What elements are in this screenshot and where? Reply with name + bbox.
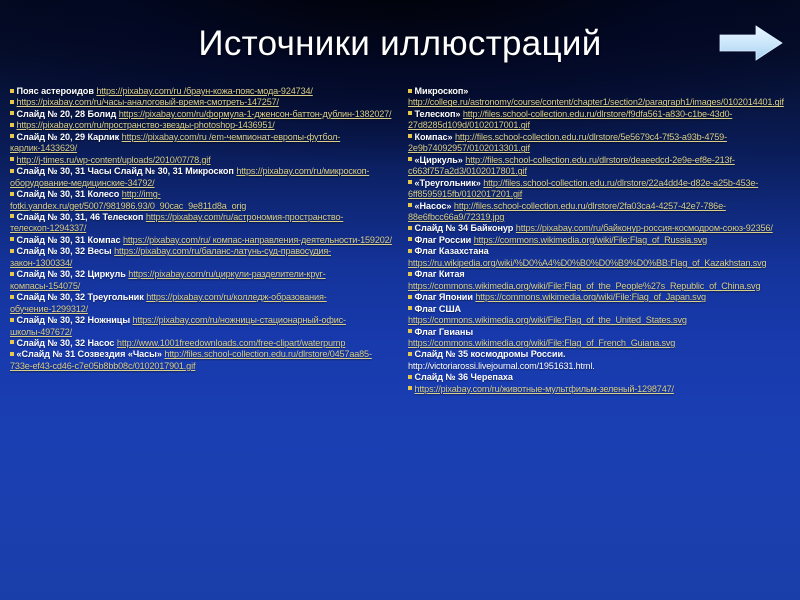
reference-entry: Пояс астероидов https://pixabay.com/ru /…: [10, 86, 392, 97]
reference-link[interactable]: https://commons.wikimedia.org/wiki/File:…: [474, 235, 707, 245]
reference-entry: https://pixabay.com/ru/пространство-звез…: [10, 120, 392, 131]
reference-entry: Флаг Китаяhttps://commons.wikimedia.org/…: [408, 269, 794, 292]
reference-link[interactable]: https://pixabay.com/ru/пространство-звез…: [17, 120, 275, 130]
reference-label: Флаг США: [415, 304, 462, 314]
reference-label: Слайд № 30, 32 Весы: [17, 246, 115, 256]
reference-entry: http://j-times.ru/wp-content/uploads/201…: [10, 155, 392, 166]
reference-label: Слайд № 30, 31 Часы Слайд № 30, 31 Микро…: [17, 166, 237, 176]
reference-label: Флаг Китая: [415, 269, 465, 279]
reference-entry: Слайд № 30, 32 Насос http://www.1001free…: [10, 338, 392, 349]
reference-entry: Слайд № 36 Черепаха: [408, 372, 794, 383]
bullet-square-icon: [408, 329, 412, 333]
bullet-square-icon: [408, 111, 412, 115]
reference-label: Слайд № 20, 29 Карлик: [17, 132, 122, 142]
bullet-square-icon: [10, 169, 14, 173]
bullet-square-icon: [408, 226, 412, 230]
reference-label: Слайд № 30, 32 Треугольник: [17, 292, 147, 302]
reference-entry: «Треугольник» http://files.school-collec…: [408, 178, 794, 201]
reference-label: Слайд № 30, 32 Циркуль: [17, 269, 129, 279]
bullet-square-icon: [408, 375, 412, 379]
reference-label: Слайд № 20, 28 Болид: [17, 109, 119, 119]
bullet-square-icon: [10, 192, 14, 196]
reference-label: Слайд № 35 космодромы России.: [415, 349, 566, 359]
reference-link[interactable]: https://commons.wikimedia.org/wiki/File:…: [408, 315, 687, 325]
reference-label: Компас»: [415, 132, 456, 142]
reference-entry: Слайд № 30, 32 Циркуль https://pixabay.c…: [10, 269, 392, 292]
reference-label: Флаг России: [415, 235, 474, 245]
reference-label: Флаг Казахстана: [415, 246, 489, 256]
bullet-square-icon: [10, 237, 14, 241]
left-column: Пояс астероидов https://pixabay.com/ru /…: [0, 86, 400, 372]
reference-entry: Слайд № 35 космодромы России.http://vict…: [408, 349, 794, 372]
reference-label: Слайд № 30, 32 Насос: [17, 338, 117, 348]
reference-label: Телескоп»: [415, 109, 463, 119]
reference-link[interactable]: https://pixabay.com/ru/формула-1-дженсон…: [119, 109, 392, 119]
bullet-square-icon: [408, 157, 412, 161]
slide-canvas: Источники иллюстраций Пояс астероидов ht…: [0, 0, 800, 600]
reference-label: «Насос»: [415, 201, 454, 211]
reference-entry: Слайд № 30, 31, 46 Телескоп https://pixa…: [10, 212, 392, 235]
reference-link[interactable]: http://j-times.ru/wp-content/uploads/201…: [17, 155, 211, 165]
reference-label: Слайд № 30, 32 Ножницы: [17, 315, 133, 325]
bullet-square-icon: [10, 134, 14, 138]
bullet-square-icon: [10, 214, 14, 218]
bullet-square-icon: [408, 352, 412, 356]
reference-entry: Компас» http://files.school-collection.e…: [408, 132, 794, 155]
bullet-square-icon: [10, 89, 14, 93]
bullet-square-icon: [10, 352, 14, 356]
reference-entry: Слайд № 30, 31 Часы Слайд № 30, 31 Микро…: [10, 166, 392, 189]
reference-entry: https://pixabay.com/ru/животные-мультфил…: [408, 384, 794, 395]
bullet-square-icon: [408, 306, 412, 310]
reference-link[interactable]: http://college.ru/astronomy/course/conte…: [408, 97, 784, 107]
bullet-square-icon: [10, 272, 14, 276]
reference-link[interactable]: https://pixabay.com/ru/байконур-россия-к…: [516, 223, 773, 233]
reference-link[interactable]: http://victoriarossi.livejournal.com/195…: [408, 361, 595, 371]
bullet-square-icon: [408, 180, 412, 184]
reference-entry: Слайд № 20, 28 Болид https://pixabay.com…: [10, 109, 392, 120]
bullet-square-icon: [10, 157, 14, 161]
reference-entry: «Насос» http://files.school-collection.e…: [408, 201, 794, 224]
reference-label: Пояс астероидов: [17, 86, 97, 96]
reference-label: Слайд № 30, 31, 46 Телескоп: [17, 212, 146, 222]
reference-label: Слайд № 34 Байконур: [415, 223, 516, 233]
bullet-square-icon: [408, 89, 412, 93]
bullet-square-icon: [408, 386, 412, 390]
reference-entry: Слайд № 20, 29 Карлик https://pixabay.co…: [10, 132, 392, 155]
reference-entry: Слайд № 34 Байконур https://pixabay.com/…: [408, 223, 794, 234]
arrow-right-icon[interactable]: [718, 24, 784, 62]
reference-link[interactable]: https://commons.wikimedia.org/wiki/File:…: [475, 292, 706, 302]
reference-entry: «Циркуль» http://files.school-collection…: [408, 155, 794, 178]
bullet-square-icon: [10, 123, 14, 127]
reference-entry: Слайд № 30, 32 Весы https://pixabay.com/…: [10, 246, 392, 269]
page-title: Источники иллюстраций: [198, 26, 601, 61]
bullet-square-icon: [10, 100, 14, 104]
reference-link[interactable]: http://files.school-collection.edu.ru/dl…: [408, 201, 726, 222]
bullet-square-icon: [10, 340, 14, 344]
bullet-square-icon: [408, 249, 412, 253]
reference-label: Флаг Японии: [415, 292, 476, 302]
bullet-square-icon: [408, 134, 412, 138]
reference-entry: «Слайд № 31 Созвездия «Часы» http://file…: [10, 349, 392, 372]
bullet-square-icon: [408, 237, 412, 241]
title-bar: Источники иллюстраций: [0, 14, 800, 72]
reference-label: «Треугольник»: [415, 178, 484, 188]
bullet-square-icon: [10, 318, 14, 322]
reference-entry: Слайд № 30, 32 Треугольник https://pixab…: [10, 292, 392, 315]
reference-entry: Слайд № 30, 31 Компас https://pixabay.co…: [10, 235, 392, 246]
bullet-square-icon: [408, 272, 412, 276]
reference-label: Слайд № 36 Черепаха: [415, 372, 513, 382]
reference-entry: Микроскоп»http://college.ru/astronomy/co…: [408, 86, 794, 109]
reference-link[interactable]: http://files.school-collection.edu.ru/dl…: [408, 132, 727, 153]
reference-label: «Слайд № 31 Созвездия «Часы»: [17, 349, 165, 359]
bullet-square-icon: [10, 295, 14, 299]
bullet-square-icon: [408, 295, 412, 299]
reference-label: Микроскоп»: [415, 86, 469, 96]
reference-entry: https://pixabay.com/ru/часы-аналоговый-в…: [10, 97, 392, 108]
reference-entry: Слайд № 30, 31 Колесо http://img-fotki.y…: [10, 189, 392, 212]
reference-entry: Флаг Казахстанаhttps://ru.wikipedia.org/…: [408, 246, 794, 269]
reference-link[interactable]: https://pixabay.com/ru /браун-кожа-пояс-…: [96, 86, 312, 96]
right-column: Микроскоп»http://college.ru/astronomy/co…: [400, 86, 800, 395]
reference-label: Флаг Гвианы: [415, 327, 474, 337]
reference-link[interactable]: https://pixabay.com/ru/ компас-направлен…: [123, 235, 392, 245]
reference-link[interactable]: https://commons.wikimedia.org/wiki/File:…: [408, 281, 760, 291]
reference-label: Слайд № 30, 31 Колесо: [17, 189, 122, 199]
bullet-square-icon: [408, 203, 412, 207]
bullet-square-icon: [10, 249, 14, 253]
reference-link[interactable]: https://pixabay.com/ru/животные-мультфил…: [415, 384, 674, 394]
reference-label: «Циркуль»: [415, 155, 466, 165]
reference-entry: Слайд № 30, 32 Ножницы https://pixabay.c…: [10, 315, 392, 338]
reference-entry: Флаг России https://commons.wikimedia.or…: [408, 235, 794, 246]
reference-link[interactable]: https://commons.wikimedia.org/wiki/File:…: [408, 338, 675, 348]
reference-link[interactable]: https://ru.wikipedia.org/wiki/%D0%A4%D0%…: [408, 258, 766, 268]
reference-entry: Флаг Японии https://commons.wikimedia.or…: [408, 292, 794, 303]
reference-entry: Флаг СШАhttps://commons.wikimedia.org/wi…: [408, 304, 794, 327]
bullet-square-icon: [10, 111, 14, 115]
reference-label: Слайд № 30, 31 Компас: [17, 235, 124, 245]
content-columns: Пояс астероидов https://pixabay.com/ru /…: [0, 86, 800, 586]
reference-entry: Флаг Гвианыhttps://commons.wikimedia.org…: [408, 327, 794, 350]
reference-link[interactable]: https://pixabay.com/ru/часы-аналоговый-в…: [17, 97, 279, 107]
reference-link[interactable]: http://www.1001freedownloads.com/free-cl…: [117, 338, 345, 348]
reference-entry: Телескоп» http://files.school-collection…: [408, 109, 794, 132]
